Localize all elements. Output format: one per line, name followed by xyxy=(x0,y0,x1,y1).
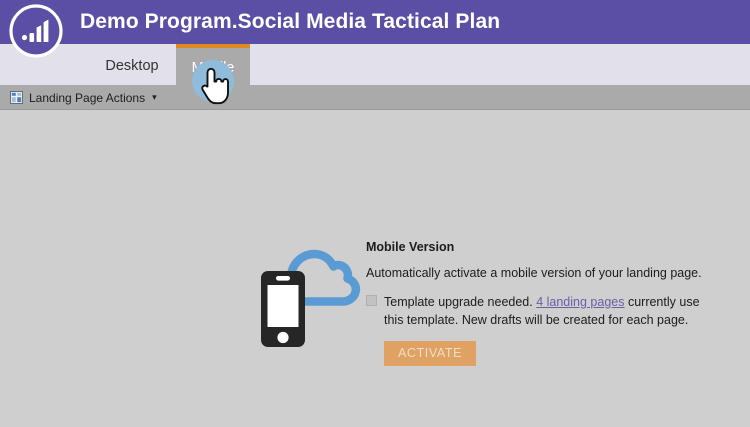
notice-text-before: Template upgrade needed. xyxy=(384,295,536,309)
application-window: Demo Program.Social Media Tactical Plan … xyxy=(0,0,750,427)
page-title: Demo Program.Social Media Tactical Plan xyxy=(80,0,500,44)
template-upgrade-notice: Template upgrade needed. 4 landing pages… xyxy=(366,293,716,329)
panel-description: Automatically activate a mobile version … xyxy=(366,266,716,281)
main-content: Mobile Version Automatically activate a … xyxy=(0,110,750,427)
actions-toolbar: Landing Page Actions ▾ xyxy=(0,85,750,110)
landing-page-actions-menu[interactable]: Landing Page Actions ▾ xyxy=(10,85,157,110)
app-header: Demo Program.Social Media Tactical Plan xyxy=(0,0,750,44)
tab-bar: Desktop Mobile xyxy=(0,44,750,85)
tab-mobile[interactable]: Mobile xyxy=(176,44,250,85)
template-upgrade-checkbox[interactable] xyxy=(366,295,377,306)
toolbar-label: Landing Page Actions xyxy=(29,91,145,105)
grid-layout-icon xyxy=(10,91,23,104)
mobile-version-text-block: Mobile Version Automatically activate a … xyxy=(366,240,716,366)
landing-pages-link[interactable]: 4 landing pages xyxy=(536,295,624,309)
notice-text: Template upgrade needed. 4 landing pages… xyxy=(384,295,700,327)
panel-heading: Mobile Version xyxy=(366,240,716,254)
activate-button[interactable]: ACTIVATE xyxy=(384,341,476,366)
tab-desktop[interactable]: Desktop xyxy=(88,44,176,85)
mobile-phone-cloud-icon xyxy=(258,240,363,350)
bar-chart-circle-logo-icon xyxy=(8,3,64,59)
chevron-down-icon: ▾ xyxy=(152,92,157,103)
